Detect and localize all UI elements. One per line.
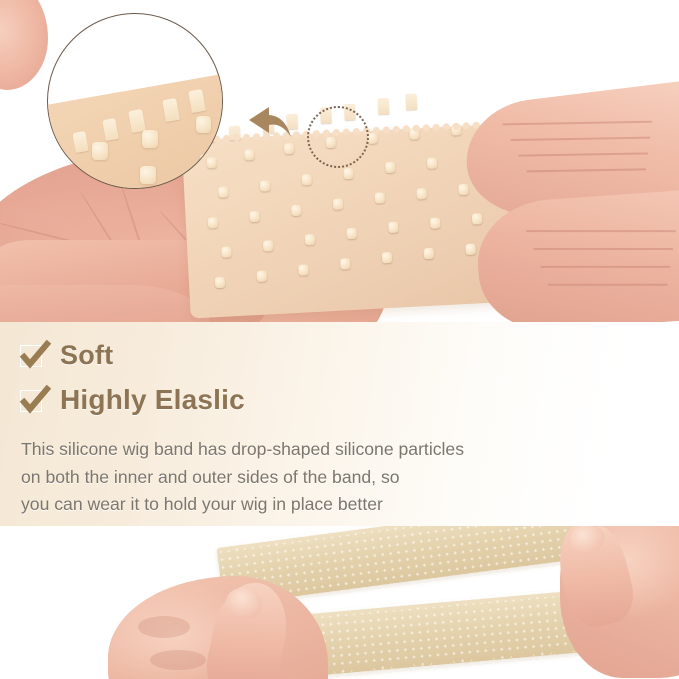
product-infographic: Soft Highly Elaslic This silicone wig ba… [0,0,679,679]
feature-text-panel: Soft Highly Elaslic This silicone wig ba… [0,322,679,526]
checkbox-checked-icon [20,387,47,414]
feature-label: Soft [60,340,113,371]
description-line-3: you can wear it to hold your wig in plac… [21,491,581,519]
zoom-region-marker [307,106,369,168]
bottom-product-photo [0,526,679,679]
zoom-pointer-arrow [247,105,293,139]
feature-item-soft: Soft [20,340,113,371]
description-line-2: on both the inner and outer sides of the… [21,464,581,492]
feature-label: Highly Elaslic [60,384,245,416]
checkbox-checked-icon [20,342,47,369]
feature-item-highly-elastic: Highly Elaslic [20,384,245,416]
top-product-photo [0,0,679,322]
magnified-detail-circle [47,13,223,189]
description-line-1: This silicone wig band has drop-shaped s… [21,436,581,464]
product-description: This silicone wig band has drop-shaped s… [21,436,581,519]
fingertip-top-left [0,0,48,90]
